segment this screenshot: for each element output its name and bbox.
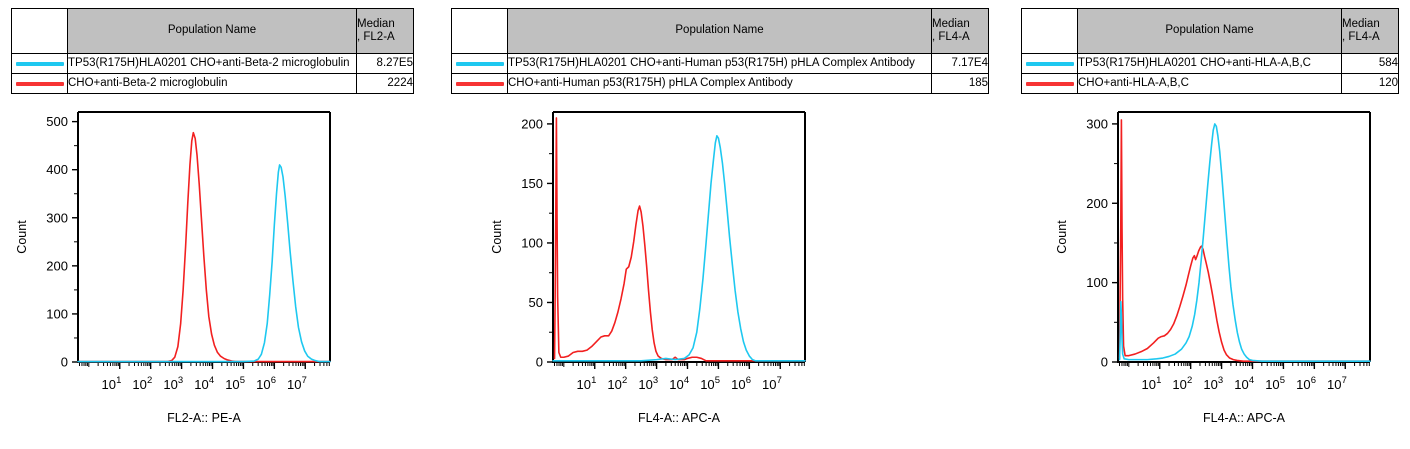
- svg-text:10: 10: [287, 377, 301, 392]
- table-row: CHO+anti-HLA-A,B,C 120: [1022, 74, 1399, 94]
- svg-text:0: 0: [61, 355, 68, 370]
- svg-text:2: 2: [1187, 375, 1192, 386]
- median-value-cell: 7.17E4: [932, 54, 989, 74]
- table-header-row: Population Name Median , FL2-A: [12, 9, 414, 54]
- svg-text:4: 4: [209, 375, 214, 386]
- table-row: TP53(R175H)HLA0201 CHO+anti-HLA-A,B,C 58…: [1022, 54, 1399, 74]
- histogram-plot: 0100200300Count101102103104105106107FL4-…: [1040, 104, 1410, 449]
- histogram-svg: 0100200300Count101102103104105106107FL4-…: [1040, 104, 1410, 449]
- svg-text:100: 100: [521, 235, 543, 250]
- svg-text:1: 1: [1156, 375, 1161, 386]
- svg-text:10: 10: [225, 377, 239, 392]
- header-median-line1: Median: [932, 18, 988, 31]
- legend-swatch-cell: [12, 54, 68, 74]
- header-population-name: Population Name: [508, 9, 932, 54]
- svg-text:300: 300: [1086, 116, 1108, 131]
- svg-text:4: 4: [1249, 375, 1254, 386]
- table-header-row: Population Name Median , FL4-A: [452, 9, 989, 54]
- svg-text:100: 100: [46, 306, 68, 321]
- header-swatch-blank: [12, 9, 68, 54]
- svg-text:200: 200: [1086, 196, 1108, 211]
- svg-text:10: 10: [1203, 377, 1217, 392]
- population-legend-table: Population Name Median , FL2-A TP53(R175…: [11, 8, 414, 94]
- population-name-cell: TP53(R175H)HLA0201 CHO+anti-Beta-2 micro…: [68, 54, 357, 74]
- svg-text:10: 10: [700, 377, 714, 392]
- svg-text:Count: Count: [1055, 220, 1069, 254]
- header-median: Median , FL4-A: [1342, 9, 1399, 54]
- histogram-svg: 0100200300400500Count1011021031041051061…: [0, 104, 400, 449]
- population-legend-table: Population Name Median , FL4-A TP53(R175…: [1021, 8, 1399, 94]
- svg-text:Count: Count: [490, 220, 504, 254]
- svg-text:1: 1: [116, 375, 121, 386]
- header-population-name: Population Name: [1078, 9, 1342, 54]
- svg-text:10: 10: [669, 377, 683, 392]
- svg-text:200: 200: [521, 116, 543, 131]
- svg-text:10: 10: [638, 377, 652, 392]
- legend-swatch-red-icon: [1026, 82, 1074, 86]
- svg-text:5: 5: [240, 375, 245, 386]
- svg-text:10: 10: [607, 377, 621, 392]
- legend-swatch-red-icon: [456, 82, 504, 86]
- population-name-cell: TP53(R175H)HLA0201 CHO+anti-Human p53(R1…: [508, 54, 932, 74]
- legend-swatch-cell: [1022, 54, 1078, 74]
- svg-text:7: 7: [1342, 375, 1347, 386]
- svg-text:400: 400: [46, 162, 68, 177]
- svg-text:3: 3: [1218, 375, 1223, 386]
- table-row: TP53(R175H)HLA0201 CHO+anti-Beta-2 micro…: [12, 54, 414, 74]
- svg-text:10: 10: [762, 377, 776, 392]
- population-name-cell: CHO+anti-Human p53(R175H) pHLA Complex A…: [508, 74, 932, 94]
- table-row: CHO+anti-Human p53(R175H) pHLA Complex A…: [452, 74, 989, 94]
- legend-swatch-cell: [452, 74, 508, 94]
- svg-text:7: 7: [302, 375, 307, 386]
- svg-text:5: 5: [1280, 375, 1285, 386]
- svg-text:500: 500: [46, 114, 68, 129]
- svg-text:Count: Count: [15, 220, 29, 254]
- header-median-line1: Median: [357, 18, 413, 31]
- svg-text:FL4-A:: APC-A: FL4-A:: APC-A: [638, 411, 721, 425]
- table-row: CHO+anti-Beta-2 microglobulin 2224: [12, 74, 414, 94]
- header-median: Median , FL4-A: [932, 9, 989, 54]
- legend-swatch-red-icon: [16, 82, 64, 86]
- legend-swatch-cell: [12, 74, 68, 94]
- svg-text:10: 10: [1296, 377, 1310, 392]
- header-median-line2: , FL4-A: [1342, 31, 1398, 44]
- histogram-plot: 0100200300400500Count1011021031041051061…: [0, 104, 400, 449]
- svg-text:FL2-A:: PE-A: FL2-A:: PE-A: [167, 411, 241, 425]
- svg-text:FL4-A:: APC-A: FL4-A:: APC-A: [1203, 411, 1286, 425]
- svg-text:1: 1: [591, 375, 596, 386]
- svg-text:6: 6: [271, 375, 276, 386]
- svg-text:6: 6: [1311, 375, 1316, 386]
- svg-text:10: 10: [1172, 377, 1186, 392]
- flow-cytometry-figure: Population Name Median , FL2-A TP53(R175…: [0, 0, 1410, 449]
- svg-text:200: 200: [46, 258, 68, 273]
- svg-text:0: 0: [536, 355, 543, 370]
- median-value-cell: 8.27E5: [357, 54, 414, 74]
- median-value-cell: 584: [1342, 54, 1399, 74]
- svg-text:10: 10: [1234, 377, 1248, 392]
- legend-swatch-cell: [452, 54, 508, 74]
- legend-swatch-cyan-icon: [16, 62, 64, 66]
- header-median: Median , FL2-A: [357, 9, 414, 54]
- histogram-svg: 050100150200Count101102103104105106107FL…: [475, 104, 875, 449]
- svg-text:10: 10: [577, 377, 591, 392]
- svg-text:6: 6: [746, 375, 751, 386]
- header-median-line2: , FL4-A: [932, 31, 988, 44]
- header-population-name: Population Name: [68, 9, 357, 54]
- svg-text:0: 0: [1101, 355, 1108, 370]
- svg-text:10: 10: [163, 377, 177, 392]
- population-name-cell: CHO+anti-HLA-A,B,C: [1078, 74, 1342, 94]
- svg-text:5: 5: [715, 375, 720, 386]
- header-swatch-blank: [452, 9, 508, 54]
- histogram-plot: 050100150200Count101102103104105106107FL…: [475, 104, 875, 449]
- svg-text:100: 100: [1086, 275, 1108, 290]
- header-median-line2: , FL2-A: [357, 31, 413, 44]
- svg-text:10: 10: [1265, 377, 1279, 392]
- panel-fl4-apc-p53: Population Name Median , FL4-A TP53(R175…: [445, 0, 1005, 449]
- svg-text:2: 2: [622, 375, 627, 386]
- svg-text:300: 300: [46, 210, 68, 225]
- svg-text:10: 10: [1327, 377, 1341, 392]
- svg-text:4: 4: [684, 375, 689, 386]
- svg-text:10: 10: [256, 377, 270, 392]
- svg-text:10: 10: [731, 377, 745, 392]
- header-median-line1: Median: [1342, 18, 1398, 31]
- population-legend-table: Population Name Median , FL4-A TP53(R175…: [451, 8, 989, 94]
- panel-fl2-pe: Population Name Median , FL2-A TP53(R175…: [0, 0, 440, 449]
- svg-text:7: 7: [777, 375, 782, 386]
- svg-text:3: 3: [653, 375, 658, 386]
- header-swatch-blank: [1022, 9, 1078, 54]
- legend-swatch-cyan-icon: [1026, 62, 1074, 66]
- population-name-cell: TP53(R175H)HLA0201 CHO+anti-HLA-A,B,C: [1078, 54, 1342, 74]
- panel-fl4-apc-hla: Population Name Median , FL4-A TP53(R175…: [1010, 0, 1410, 449]
- svg-text:50: 50: [529, 295, 543, 310]
- svg-text:3: 3: [178, 375, 183, 386]
- svg-text:10: 10: [194, 377, 208, 392]
- median-value-cell: 185: [932, 74, 989, 94]
- median-value-cell: 120: [1342, 74, 1399, 94]
- median-value-cell: 2224: [357, 74, 414, 94]
- population-name-cell: CHO+anti-Beta-2 microglobulin: [68, 74, 357, 94]
- svg-text:150: 150: [521, 176, 543, 191]
- table-header-row: Population Name Median , FL4-A: [1022, 9, 1399, 54]
- svg-text:10: 10: [132, 377, 146, 392]
- legend-swatch-cyan-icon: [456, 62, 504, 66]
- legend-swatch-cell: [1022, 74, 1078, 94]
- svg-text:10: 10: [1142, 377, 1156, 392]
- table-row: TP53(R175H)HLA0201 CHO+anti-Human p53(R1…: [452, 54, 989, 74]
- svg-text:2: 2: [147, 375, 152, 386]
- svg-text:10: 10: [102, 377, 116, 392]
